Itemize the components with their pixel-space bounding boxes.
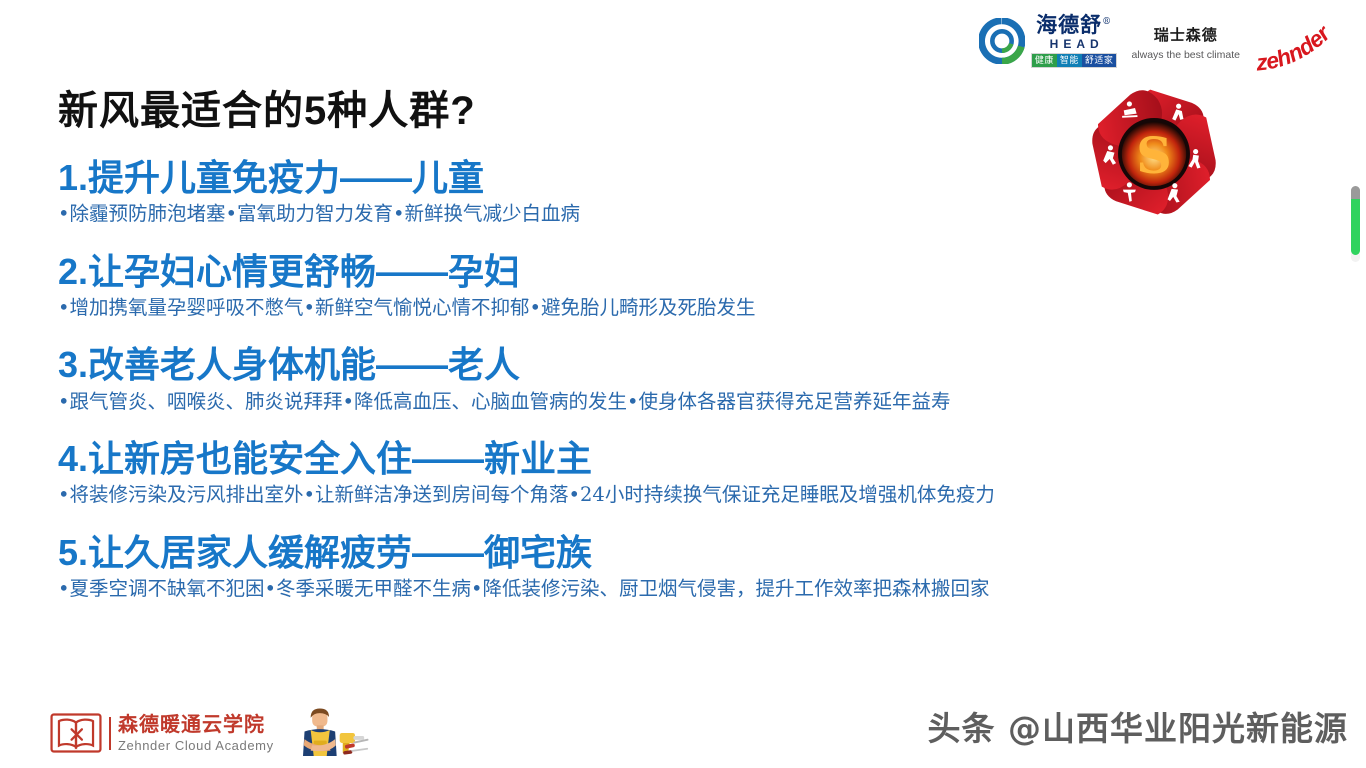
scrollbar-thumb-cap[interactable]: [1351, 186, 1360, 200]
page-title: 新风最适合的5种人群?: [58, 78, 476, 136]
brand-bar: 海德舒® HEAD 健康 智能 舒适家 瑞士森德 always the best…: [979, 14, 1358, 74]
head-brand-text: 海德舒® HEAD 健康 智能 舒适家: [1031, 14, 1118, 68]
head-circle-mark-icon: [979, 18, 1025, 64]
list-item-sub: •除霾预防肺泡堵塞•富氧助力智力发育•新鲜换气减少白血病: [58, 201, 1318, 226]
scrollbar-track[interactable]: [1351, 186, 1360, 262]
list-item-sub: •将装修污染及污风排出室外•让新鲜洁净送到房间每个角落•24小时持续换气保证充足…: [58, 482, 1318, 507]
worker-with-tools-icon: [283, 707, 375, 759]
list-item: 5.让久居家人缓解疲劳——御宅族 •夏季空调不缺氧不犯困•冬季采暖无甲醛不生病•…: [58, 533, 1318, 602]
list-item: 2.让孕妇心情更舒畅——孕妇 •增加携氧量孕婴呼吸不憋气•新鲜空气愉悦心情不抑郁…: [58, 252, 1318, 321]
zehnder-wordmark-icon: zehnder: [1254, 12, 1358, 74]
watermark-text: 头条 @山西华业阳光新能源: [928, 702, 1349, 750]
swiss-brand-block: 瑞士森德 always the best climate: [1131, 24, 1240, 61]
academy-text: 森德暖通云学院 Zehnder Cloud Academy: [118, 715, 274, 752]
list-item: 1.提升儿童免疫力——儿童 •除霾预防肺泡堵塞•富氧助力智力发育•新鲜换气减少白…: [58, 158, 1318, 227]
list-item-sub: •增加携氧量孕婴呼吸不憋气•新鲜空气愉悦心情不抑郁•避免胎儿畸形及死胎发生: [58, 295, 1318, 320]
list-item-heading: 3.改善老人身体机能——老人: [58, 345, 1318, 385]
head-brand-cn: 海德舒®: [1036, 14, 1112, 35]
head-tag-0: 健康: [1032, 54, 1057, 67]
list-item-heading: 5.让久居家人缓解疲劳——御宅族: [58, 533, 1318, 573]
list-item-sub: •夏季空调不缺氧不犯困•冬季采暖无甲醛不生病•降低装修污染、厨卫烟气侵害，提升工…: [58, 576, 1318, 601]
academy-name-en: Zehnder Cloud Academy: [118, 739, 274, 752]
swiss-brand-tagline: always the best climate: [1131, 49, 1240, 61]
list-item: 4.让新房也能安全入住——新业主 •将装修污染及污风排出室外•让新鲜洁净送到房间…: [58, 439, 1318, 508]
head-brand-en: HEAD: [1045, 38, 1104, 50]
head-tag-1: 智能: [1057, 54, 1082, 67]
academy-name-cn: 森德暖通云学院: [118, 715, 274, 735]
open-book-icon: [50, 713, 102, 753]
slide-canvas: 海德舒® HEAD 健康 智能 舒适家 瑞士森德 always the best…: [0, 0, 1366, 768]
list-item: 3.改善老人身体机能——老人 •跟气管炎、咽喉炎、肺炎说拜拜•降低高血压、心脑血…: [58, 345, 1318, 414]
list-item-heading: 2.让孕妇心情更舒畅——孕妇: [58, 252, 1318, 292]
list-item-heading: 1.提升儿童免疫力——儿童: [58, 158, 1318, 198]
head-brand-logo: 海德舒® HEAD 健康 智能 舒适家: [979, 14, 1118, 68]
bullet-list: 1.提升儿童免疫力——儿童 •除霾预防肺泡堵塞•富氧助力智力发育•新鲜换气减少白…: [58, 158, 1318, 601]
swiss-brand-cn: 瑞士森德: [1131, 24, 1240, 45]
head-brand-tags: 健康 智能 舒适家: [1031, 53, 1118, 68]
academy-logo: 森德暖通云学院 Zehnder Cloud Academy: [50, 706, 375, 760]
svg-text:zehnder: zehnder: [1254, 19, 1336, 74]
list-item-sub: •跟气管炎、咽喉炎、肺炎说拜拜•降低高血压、心脑血管病的发生•使身体各器官获得充…: [58, 389, 1318, 414]
scrollbar-thumb[interactable]: [1351, 199, 1360, 255]
logo-divider: [109, 717, 111, 750]
list-item-heading: 4.让新房也能安全入住——新业主: [58, 439, 1318, 479]
head-tag-2: 舒适家: [1082, 54, 1117, 67]
